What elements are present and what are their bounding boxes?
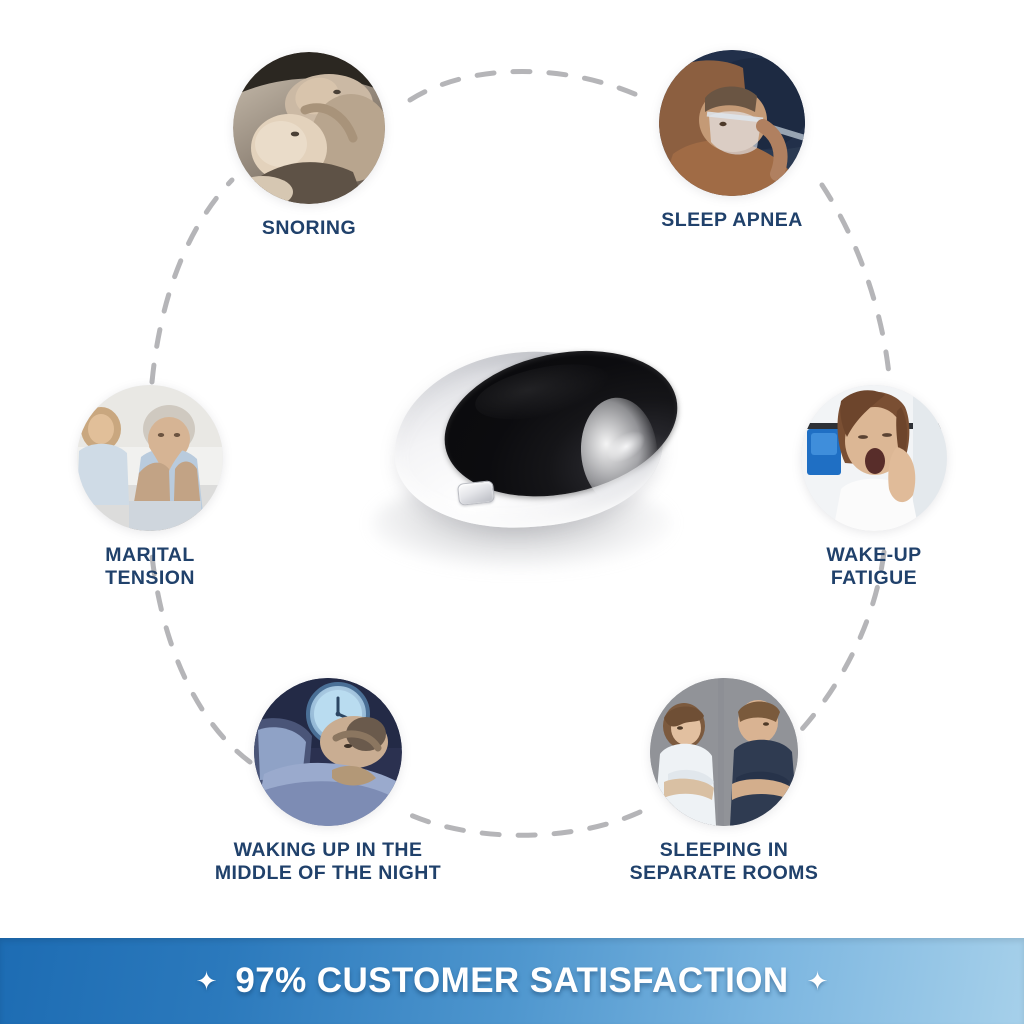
device-button — [457, 480, 495, 506]
node-label-wake-up-fatigue: WAKE-UP FATIGUE — [826, 544, 921, 589]
node-separate-rooms: SLEEPING IN SEPARATE ROOMS — [592, 678, 856, 884]
node-label-marital-tension: MARITAL TENSION — [105, 544, 195, 589]
snoring-couple-photo — [233, 52, 385, 204]
waking-up-night-photo — [254, 678, 402, 826]
infographic-page: SNORING — [0, 0, 1024, 1024]
banner-text: 97% CUSTOMER SATISFACTION — [235, 961, 788, 1001]
node-label-separate-rooms: SLEEPING IN SEPARATE ROOMS — [630, 839, 819, 884]
banner-inner: ✦ 97% CUSTOMER SATISFACTION ✦ — [196, 961, 829, 1001]
wake-up-fatigue-photo — [801, 385, 947, 531]
node-waking-up-night: WAKING UP IN THE MIDDLE OF THE NIGHT — [193, 678, 463, 884]
marital-tension-photo — [77, 385, 223, 531]
node-snoring: SNORING — [205, 52, 413, 240]
sparkle-left-icon: ✦ — [196, 968, 218, 994]
node-label-waking-up-night: WAKING UP IN THE MIDDLE OF THE NIGHT — [215, 839, 441, 884]
sleep-apnea-photo — [659, 50, 805, 196]
separate-rooms-photo — [650, 678, 798, 826]
node-marital-tension: MARITAL TENSION — [46, 385, 254, 589]
satisfaction-banner: ✦ 97% CUSTOMER SATISFACTION ✦ — [0, 938, 1024, 1024]
node-sleep-apnea: SLEEP APNEA — [628, 50, 836, 232]
node-wake-up-fatigue: WAKE-UP FATIGUE — [768, 385, 980, 589]
product-device — [352, 330, 692, 580]
dash-segment-top — [410, 72, 648, 101]
node-label-sleep-apnea: SLEEP APNEA — [661, 209, 803, 232]
sparkle-right-icon: ✦ — [807, 968, 829, 994]
node-label-snoring: SNORING — [262, 217, 356, 240]
